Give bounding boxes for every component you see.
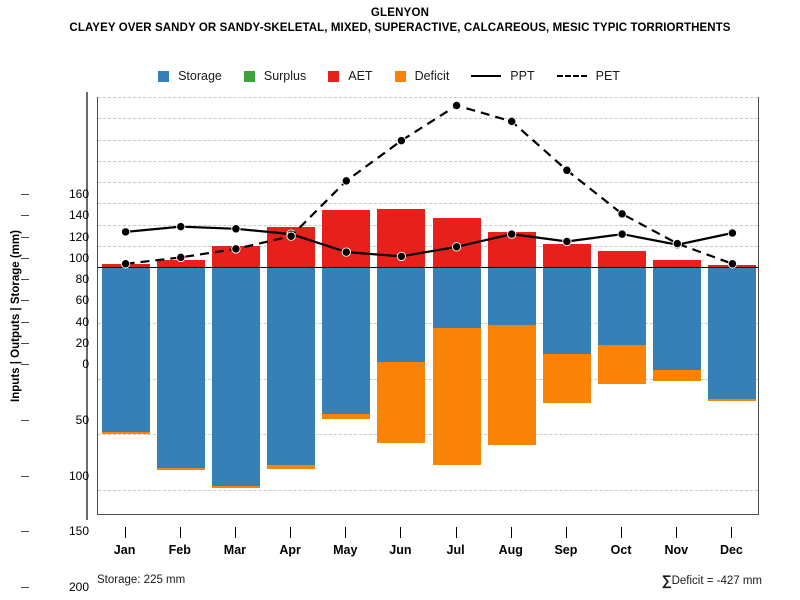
- x-tick-mark: [731, 527, 732, 538]
- y-tick-mark: [21, 364, 29, 365]
- page-subtitle: CLAYEY OVER SANDY OR SANDY-SKELETAL, MIX…: [0, 21, 800, 36]
- plot-area: 02040608010012014016050100150200: [97, 97, 759, 515]
- deficit-note-text: Deficit = -427 mm: [672, 575, 762, 587]
- x-tick-mark: [400, 527, 401, 538]
- x-tick-label-nov: Nov: [664, 543, 688, 557]
- data-point-ppt: [563, 237, 571, 245]
- data-point-pet: [121, 260, 129, 268]
- x-tick-label-feb: Feb: [169, 543, 191, 557]
- legend-label: Surplus: [264, 69, 306, 83]
- y-tick-mark: [21, 420, 29, 421]
- legend-item-storage[interactable]: Storage: [158, 69, 222, 83]
- x-tick-label-aug: Aug: [499, 543, 523, 557]
- y-tick-mark: [21, 215, 29, 216]
- x-tick-mark: [621, 527, 622, 538]
- y-tick-label: 60: [29, 293, 98, 307]
- sigma-icon: ∑: [662, 572, 672, 588]
- x-tick-label-jul: Jul: [447, 543, 465, 557]
- data-point-ppt: [121, 228, 129, 236]
- plot-inner: [98, 97, 758, 514]
- legend-dashed-line-icon: [557, 75, 587, 77]
- legend-label: Deficit: [415, 69, 450, 83]
- y-axis-label-text: Inputs | Outputs | Storage (mm): [10, 186, 22, 446]
- legend-label: PET: [596, 69, 620, 83]
- y-axis-label: Inputs | Outputs | Storage (mm): [6, 190, 26, 450]
- x-tick-mark: [290, 527, 291, 538]
- y-tick-mark: [21, 279, 29, 280]
- y-tick-mark: [21, 587, 29, 588]
- data-point-pet: [728, 260, 736, 268]
- y-tick-label: 160: [29, 187, 98, 201]
- data-point-pet: [287, 232, 295, 240]
- x-tick-mark: [345, 527, 346, 538]
- legend-label: PPT: [510, 69, 534, 83]
- data-point-pet: [177, 253, 185, 261]
- data-point-pet: [232, 245, 240, 253]
- legend-item-deficit[interactable]: Deficit: [395, 69, 450, 83]
- legend-swatch-icon: [328, 71, 339, 82]
- y-tick-mark: [21, 237, 29, 238]
- x-tick-label-oct: Oct: [611, 543, 632, 557]
- data-point-pet: [618, 210, 626, 218]
- x-tick-label-dec: Dec: [720, 543, 743, 557]
- x-tick-label-jun: Jun: [389, 543, 411, 557]
- x-tick-mark: [566, 527, 567, 538]
- x-tick-label-jan: Jan: [114, 543, 136, 557]
- y-tick-label: 120: [29, 230, 98, 244]
- y-tick-mark: [21, 531, 29, 532]
- legend-item-pet[interactable]: PET: [557, 69, 620, 83]
- legend-label: AET: [348, 69, 372, 83]
- x-tick-label-apr: Apr: [279, 543, 301, 557]
- legend-solid-line-icon: [471, 75, 501, 77]
- legend-item-surplus[interactable]: Surplus: [244, 69, 306, 83]
- chart-legend: StorageSurplusAETDeficitPPTPET: [0, 69, 800, 83]
- data-point-ppt: [232, 225, 240, 233]
- data-point-ppt: [177, 222, 185, 230]
- x-tick-mark: [456, 527, 457, 538]
- legend-swatch-icon: [244, 71, 255, 82]
- y-tick-label: 0: [29, 357, 98, 371]
- legend-swatch-icon: [158, 71, 169, 82]
- data-point-pet: [397, 136, 405, 144]
- y-tick-label: 150: [29, 524, 98, 538]
- y-tick-label: 100: [29, 251, 98, 265]
- data-point-pet: [563, 166, 571, 174]
- legend-item-ppt[interactable]: PPT: [471, 69, 534, 83]
- x-tick-mark: [511, 527, 512, 538]
- deficit-note: ∑Deficit = -427 mm: [662, 572, 762, 588]
- y-tick-mark: [21, 476, 29, 477]
- line-pet: [126, 106, 733, 264]
- x-tick-label-mar: Mar: [224, 543, 246, 557]
- y-tick-mark: [21, 300, 29, 301]
- x-tick-label-may: May: [333, 543, 357, 557]
- y-tick-label: 200: [29, 580, 98, 594]
- legend-label: Storage: [178, 69, 222, 83]
- y-tick-mark: [21, 343, 29, 344]
- data-point-ppt: [342, 248, 350, 256]
- legend-item-aet[interactable]: AET: [328, 69, 372, 83]
- data-point-ppt: [728, 229, 736, 237]
- x-axis-labels: JanFebMarAprMayJunJulAugSepOctNovDec: [97, 543, 759, 561]
- data-point-pet: [342, 177, 350, 185]
- x-tick-label-sep: Sep: [554, 543, 577, 557]
- data-point-pet: [508, 117, 516, 125]
- data-point-ppt: [618, 230, 626, 238]
- x-tick-mark: [125, 527, 126, 538]
- chart-title-block: GLENYON CLAYEY OVER SANDY OR SANDY-SKELE…: [0, 6, 800, 36]
- y-tick-label: 40: [29, 315, 98, 329]
- x-axis-ticks: [97, 527, 759, 539]
- data-point-ppt: [452, 243, 460, 251]
- x-tick-mark: [180, 527, 181, 538]
- x-tick-mark: [676, 527, 677, 538]
- y-tick-mark: [21, 322, 29, 323]
- data-point-pet: [452, 101, 460, 109]
- legend-swatch-icon: [395, 71, 406, 82]
- y-tick-label: 140: [29, 208, 98, 222]
- y-tick-label: 80: [29, 272, 98, 286]
- data-point-ppt: [508, 230, 516, 238]
- data-point-ppt: [397, 252, 405, 260]
- page-title: GLENYON: [0, 6, 800, 21]
- water-balance-chart: GLENYON CLAYEY OVER SANDY OR SANDY-SKELE…: [0, 0, 800, 600]
- y-tick-mark: [21, 194, 29, 195]
- y-tick-label: 50: [29, 413, 98, 427]
- x-tick-mark: [235, 527, 236, 538]
- line-series-layer: [98, 97, 758, 514]
- y-tick-mark: [21, 258, 29, 259]
- y-tick-label: 100: [29, 469, 98, 483]
- data-point-pet: [673, 239, 681, 247]
- y-tick-label: 20: [29, 336, 98, 350]
- storage-note: Storage: 225 mm: [97, 574, 185, 586]
